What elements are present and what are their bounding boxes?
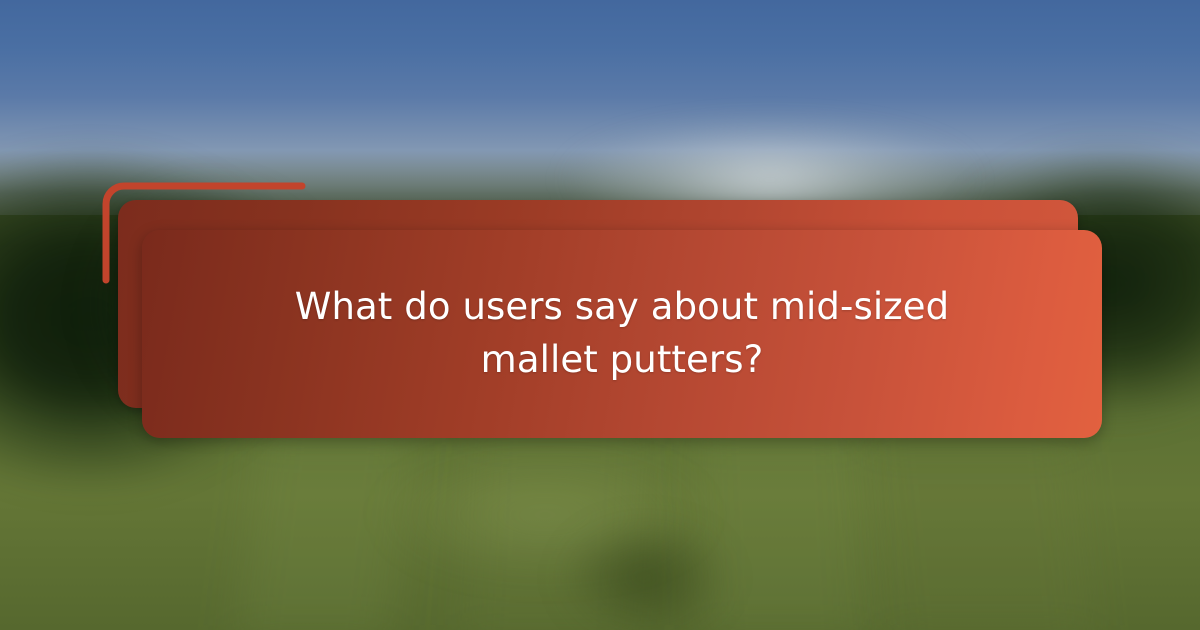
fairway-shadow [560, 520, 730, 630]
poster-canvas: What do users say about mid-sized mallet… [0, 0, 1200, 630]
corner-lines-bottom-left [0, 430, 215, 630]
question-text: What do users say about mid-sized mallet… [252, 281, 992, 386]
fairway-stripe [869, 440, 1090, 630]
question-card[interactable]: What do users say about mid-sized mallet… [142, 230, 1102, 438]
corner-lines-top-right [990, 0, 1200, 190]
